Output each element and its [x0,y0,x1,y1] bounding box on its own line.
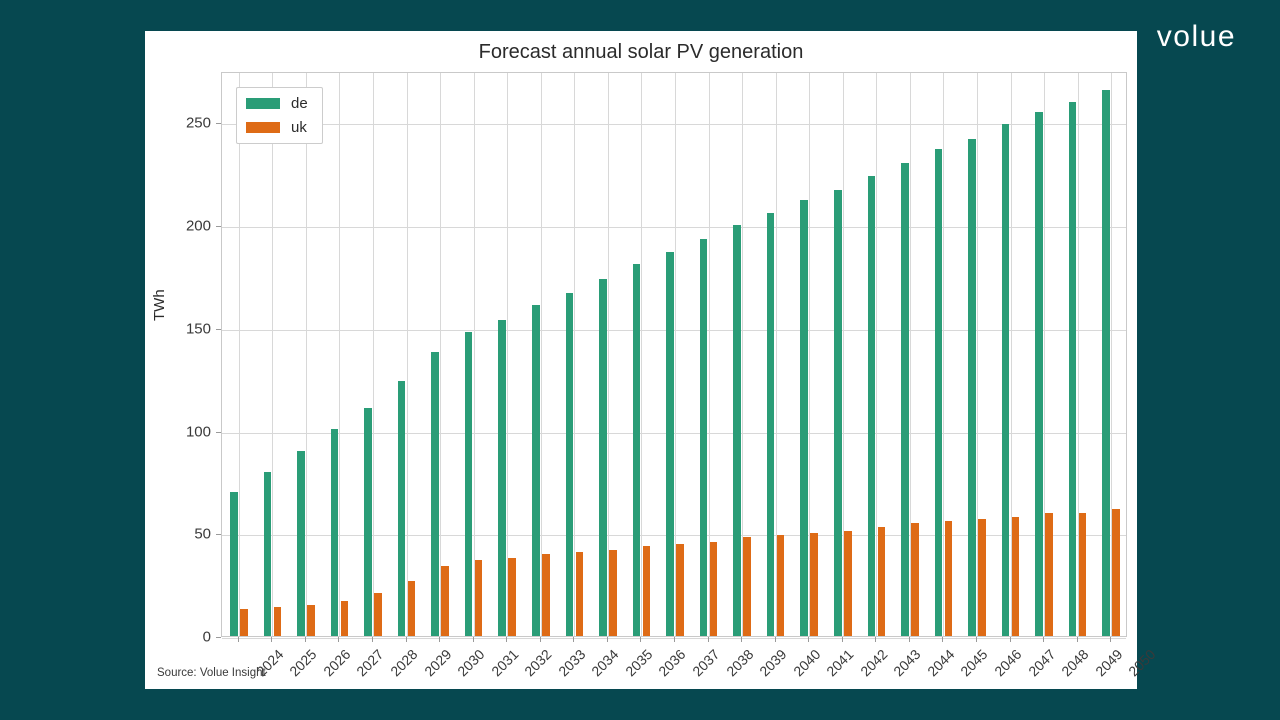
y-tick-mark [216,432,221,433]
volue-logo: volue [1157,22,1236,52]
x-tick-label: 2041 [823,646,856,679]
x-tick-mark [741,637,742,642]
y-tick-label: 150 [167,320,211,337]
x-tick-label: 2025 [286,646,319,679]
bar-de-2031 [465,332,473,636]
x-tick-mark [473,637,474,642]
legend-label-de: de [291,95,308,112]
bar-uk-2027 [341,601,349,636]
bar-uk-2029 [408,581,416,636]
bar-de-2047 [1002,124,1010,636]
bar-de-2028 [364,408,372,636]
x-tick-mark [708,637,709,642]
bar-uk-2034 [576,552,584,636]
x-tick-mark [674,637,675,642]
bar-de-2026 [297,451,305,636]
bar-uk-2041 [810,533,818,636]
x-tick-mark [808,637,809,642]
x-tick-label: 2036 [656,646,689,679]
bar-uk-2048 [1045,513,1053,636]
x-tick-mark [540,637,541,642]
bar-uk-2050 [1112,509,1120,636]
x-tick-mark [909,637,910,642]
x-tick-mark [238,637,239,642]
x-tick-label: 2033 [555,646,588,679]
x-tick-label: 2047 [1025,646,1058,679]
bar-de-2039 [733,225,741,636]
bar-de-2036 [633,264,641,636]
bar-uk-2037 [676,544,684,636]
bar-de-2041 [800,200,808,636]
x-tick-mark [607,637,608,642]
x-tick-label: 2034 [588,646,621,679]
bar-de-2050 [1102,90,1110,637]
x-tick-label: 2044 [924,646,957,679]
legend-swatch-uk [246,122,280,133]
plot-area: deuk [221,72,1127,637]
y-tick-label: 50 [167,526,211,543]
x-tick-mark [573,637,574,642]
bar-uk-2045 [945,521,953,636]
x-tick-mark [338,637,339,642]
bar-de-2034 [566,293,574,636]
y-tick-mark [216,637,221,638]
legend-swatch-de [246,98,280,109]
bars-layer [222,73,1126,636]
y-tick-mark [216,123,221,124]
x-tick-label: 2039 [756,646,789,679]
x-tick-label: 2035 [622,646,655,679]
bar-uk-2049 [1079,513,1087,636]
x-tick-label: 2029 [421,646,454,679]
x-tick-label: 2038 [723,646,756,679]
x-tick-label: 2049 [1092,646,1125,679]
bar-de-2046 [968,139,976,636]
bar-uk-2033 [542,554,550,636]
x-tick-label: 2048 [1058,646,1091,679]
bar-de-2029 [398,381,406,636]
legend-item-uk[interactable]: uk [246,119,308,136]
bar-uk-2024 [240,609,248,636]
y-tick-mark [216,226,221,227]
bar-uk-2043 [878,527,886,636]
bar-de-2032 [498,320,506,636]
bar-de-2024 [230,492,238,636]
y-tick-label: 250 [167,115,211,132]
bar-de-2035 [599,279,607,636]
x-tick-label: 2037 [689,646,722,679]
y-tick-label: 200 [167,218,211,235]
x-tick-label: 2028 [387,646,420,679]
x-tick-label: 2032 [521,646,554,679]
bar-uk-2040 [777,535,785,636]
bar-de-2045 [935,149,943,636]
x-tick-mark [372,637,373,642]
bar-uk-2030 [441,566,449,636]
bar-de-2048 [1035,112,1043,636]
bar-uk-2031 [475,560,483,636]
x-tick-label: 2026 [320,646,353,679]
x-tick-mark [305,637,306,642]
source-note: Source: Volue Insight [157,667,266,679]
bar-uk-2026 [307,605,315,636]
bar-de-2025 [264,472,272,636]
bar-de-2044 [901,163,909,636]
y-tick-mark [216,534,221,535]
bar-de-2038 [700,239,708,636]
chart-title: Forecast annual solar PV generation [145,41,1137,64]
bar-uk-2044 [911,523,919,636]
bar-de-2037 [666,252,674,636]
x-tick-mark [406,637,407,642]
y-axis-label: TWh [151,289,168,321]
bar-uk-2025 [274,607,282,636]
bar-de-2040 [767,213,775,636]
bar-uk-2028 [374,593,382,636]
x-tick-label: 2030 [454,646,487,679]
x-tick-mark [271,637,272,642]
bar-de-2033 [532,305,540,636]
x-tick-mark [1043,637,1044,642]
bar-de-2027 [331,429,339,637]
x-tick-label: 2031 [488,646,521,679]
x-tick-label: 2050 [1125,646,1158,679]
x-tick-label: 2040 [790,646,823,679]
bar-uk-2039 [743,537,751,636]
legend-label-uk: uk [291,119,307,136]
x-tick-label: 2042 [857,646,890,679]
x-tick-label: 2027 [354,646,387,679]
y-tick-mark [216,329,221,330]
bar-uk-2046 [978,519,986,636]
chart-legend[interactable]: deuk [236,87,323,144]
x-tick-mark [1077,637,1078,642]
x-tick-mark [875,637,876,642]
bar-de-2042 [834,190,842,636]
bar-uk-2036 [643,546,651,636]
y-tick-label: 0 [167,629,211,646]
x-tick-mark [1010,637,1011,642]
x-tick-mark [439,637,440,642]
x-tick-mark [976,637,977,642]
x-tick-label: 2046 [991,646,1024,679]
bar-de-2030 [431,352,439,636]
bar-uk-2047 [1012,517,1020,636]
x-tick-mark [942,637,943,642]
bar-de-2043 [868,176,876,636]
y-tick-label: 100 [167,423,211,440]
x-tick-label: 2043 [890,646,923,679]
bar-uk-2032 [508,558,516,636]
legend-item-de[interactable]: de [246,95,308,112]
bar-uk-2042 [844,531,852,636]
x-tick-mark [506,637,507,642]
bar-uk-2038 [710,542,718,637]
x-tick-label: 2045 [958,646,991,679]
x-tick-mark [640,637,641,642]
chart-card: Forecast annual solar PV generation TWh … [145,31,1137,689]
x-tick-mark [775,637,776,642]
x-tick-mark [1110,637,1111,642]
bar-uk-2035 [609,550,617,636]
bar-de-2049 [1069,102,1077,636]
x-tick-mark [842,637,843,642]
